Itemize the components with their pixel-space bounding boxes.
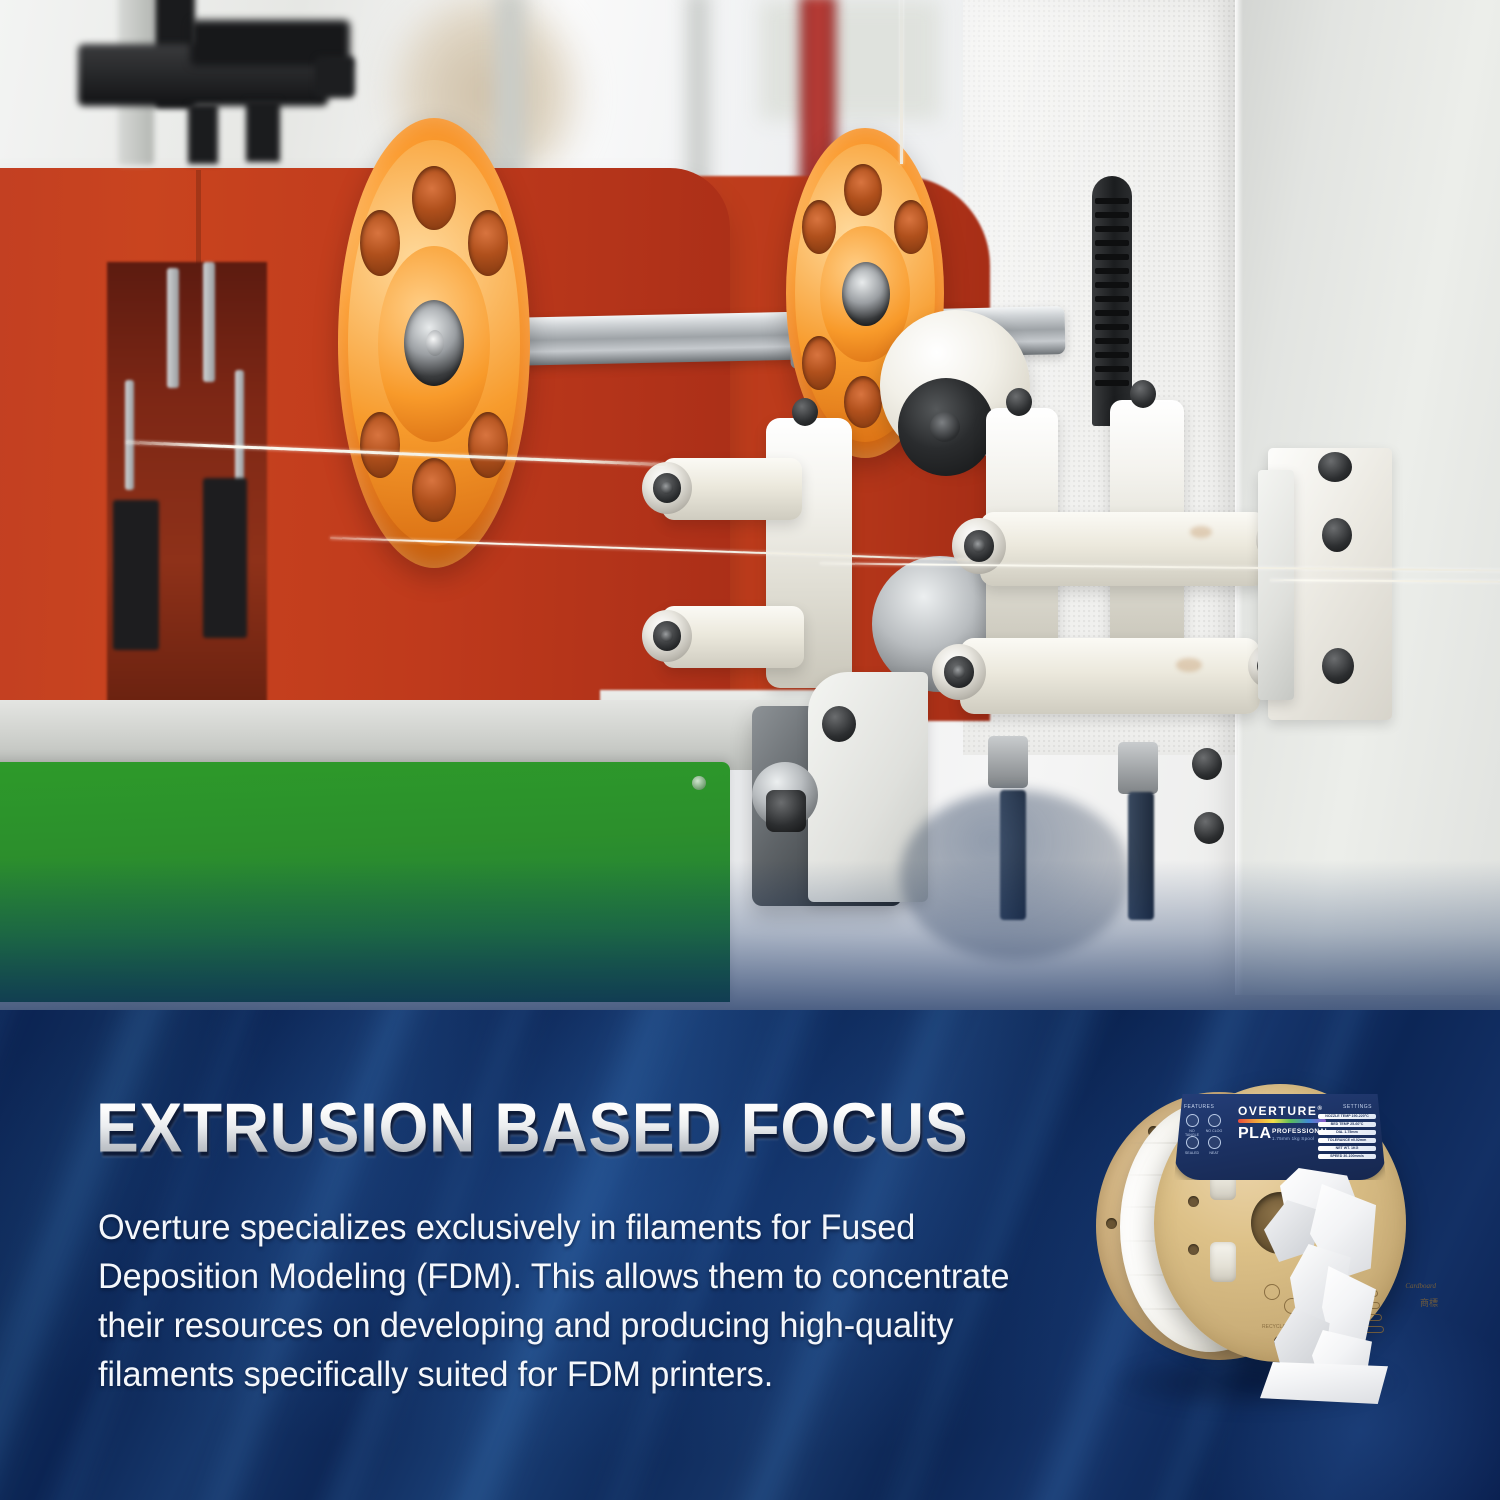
label-setting-row: SPEED 30-100mm/s — [1320, 1154, 1374, 1159]
horizontal-guide-roller — [960, 638, 1260, 714]
filament-strand-vertical — [900, 0, 903, 164]
shaft-cap — [766, 790, 806, 832]
label-tagline: 1.75mm 1kg Spool — [1272, 1136, 1314, 1141]
label-settings-header: SETTINGS — [1343, 1104, 1372, 1110]
adjust-knob — [1322, 648, 1354, 684]
page-title: EXTRUSION BASED FOCUS — [96, 1092, 968, 1166]
adjust-knob — [1318, 452, 1352, 482]
label-setting-row: BED TEMP 25-60°C — [1320, 1122, 1374, 1127]
machine-photo — [0, 0, 1500, 1010]
label-setting-row: NOZZLE TEMP 190-220°C — [1320, 1114, 1374, 1119]
roller-bearing — [642, 462, 692, 514]
pulley-spoke-hole — [844, 164, 882, 216]
machine-green-door — [0, 762, 730, 1002]
vacuum-sealed-icon — [1186, 1136, 1199, 1149]
pulley-spoke-hole — [844, 376, 882, 428]
product-image: Cardboard 商標 RECYCLABLE FEATURES SETTING… — [1088, 1058, 1428, 1418]
roller-top-knob — [792, 398, 818, 426]
lock-knob — [1192, 748, 1222, 780]
pulley-spoke-hole — [468, 210, 508, 276]
roller-bearing — [642, 610, 692, 662]
pulley-spoke-hole — [360, 210, 400, 276]
pulley-spoke-hole — [412, 458, 456, 522]
label-setting-row: TOLERANCE ±0.02mm — [1320, 1138, 1374, 1143]
label-color-bar — [1238, 1119, 1326, 1123]
neat-winding-icon — [1208, 1136, 1221, 1149]
label-features-header: FEATURES — [1184, 1104, 1214, 1110]
label-setting-row: DIA. 1.75mm — [1320, 1130, 1374, 1135]
machine-inner-cavity — [107, 262, 267, 722]
pivot-knob — [822, 706, 856, 742]
pulley-spoke-hole — [894, 200, 928, 254]
label-brand: OVERTURE® — [1238, 1104, 1324, 1118]
top-post — [188, 104, 218, 164]
machine-ledge — [0, 700, 780, 770]
pulley-hub — [842, 262, 890, 326]
door-bolt — [692, 776, 706, 790]
window-pane — [760, 0, 940, 120]
roller-bearing — [932, 644, 986, 700]
pulley-spoke-hole — [802, 200, 836, 254]
promo-banner: EXTRUSION BASED FOCUS Overture specializ… — [0, 0, 1500, 1500]
lower-shadow — [900, 790, 1130, 960]
filament-window — [1210, 1242, 1236, 1282]
label-material: PLA — [1238, 1125, 1272, 1143]
adjust-knob — [1322, 518, 1352, 552]
no-clog-icon — [1208, 1114, 1221, 1127]
label-setting-row: NET WT. 1KG — [1320, 1146, 1374, 1151]
no-tangle-icon — [1186, 1114, 1199, 1127]
pulley-spoke-hole — [360, 412, 400, 478]
hex-nut — [988, 736, 1028, 788]
pulley-center-bolt — [426, 330, 444, 356]
orange-pulley-wheel — [338, 118, 530, 568]
spool-script-text: Cardboard — [1405, 1282, 1436, 1290]
hex-nut — [1118, 742, 1158, 794]
roller-top-knob — [1006, 388, 1032, 416]
lock-knob — [1194, 812, 1224, 844]
body-paragraph: Overture specializes exclusively in fila… — [98, 1203, 1044, 1399]
lower-rod — [1128, 792, 1154, 920]
pulley-spoke-hole — [802, 336, 836, 390]
hub-center-bolt — [930, 412, 960, 442]
pulley-spoke-hole — [412, 166, 456, 230]
spool-cjk-mark: 商標 — [1420, 1296, 1438, 1309]
horizontal-guide-roller — [980, 512, 1268, 586]
roller-bracket — [1258, 470, 1294, 700]
model-base — [1260, 1362, 1388, 1404]
top-post — [246, 100, 280, 162]
pulley-spoke-hole — [468, 412, 508, 478]
top-cap — [315, 56, 355, 98]
roller-top-knob — [1130, 380, 1156, 408]
printed-model-statue — [1266, 1166, 1396, 1414]
timing-belt — [1092, 176, 1132, 426]
